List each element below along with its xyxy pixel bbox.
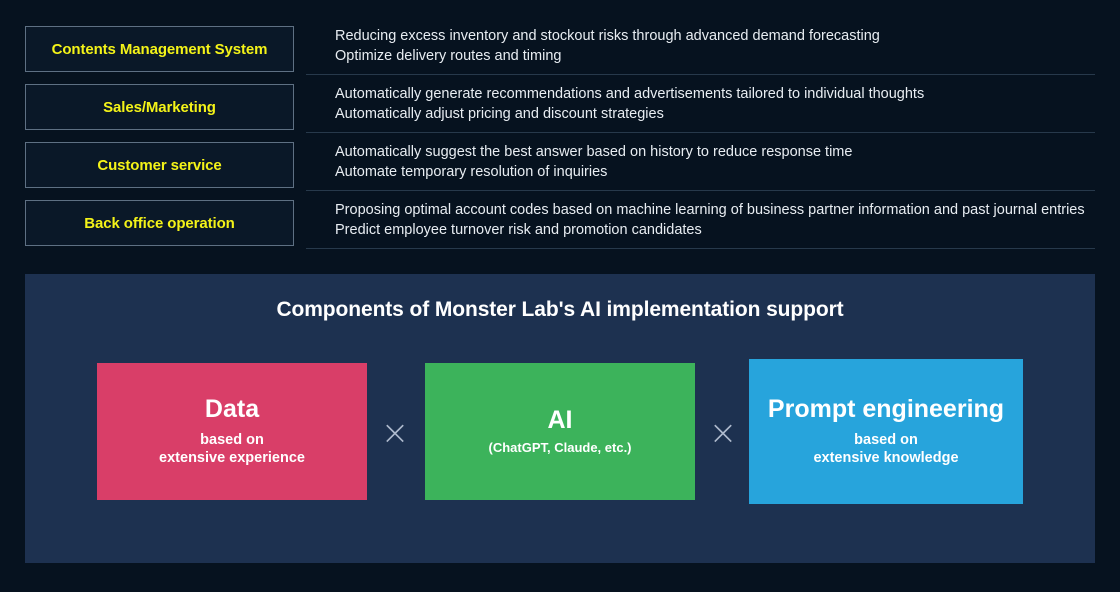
usecase-description-line: Predict employee turnover risk and promo… <box>335 220 1105 240</box>
row-separator <box>306 248 1095 249</box>
component-box-title: Prompt engineering <box>768 395 1004 424</box>
component-box-ai[interactable]: AI (ChatGPT, Claude, etc.) <box>425 363 695 500</box>
table-row: Contents Management System Reducing exce… <box>0 21 1120 79</box>
usecase-label-text: Back office operation <box>84 215 234 232</box>
usecase-label-box-contents-management-system[interactable]: Contents Management System <box>25 26 294 72</box>
usecase-description-cell: Reducing excess inventory and stockout r… <box>335 26 1105 74</box>
component-box-subtitle: based on extensive knowledge <box>813 431 958 469</box>
usecase-label-text: Contents Management System <box>52 41 268 58</box>
usecase-description-line: Reducing excess inventory and stockout r… <box>335 26 1105 46</box>
usecase-description-cell: Automatically suggest the best answer ba… <box>335 142 1105 190</box>
row-separator <box>306 132 1095 133</box>
usecase-description-line: Proposing optimal account codes based on… <box>335 200 1105 220</box>
usecase-description-line: Automate temporary resolution of inquiri… <box>335 162 1105 182</box>
component-box-subtitle: (ChatGPT, Claude, etc.) <box>488 440 631 457</box>
component-box-data[interactable]: Data based on extensive experience <box>97 363 367 500</box>
table-row: Sales/Marketing Automatically generate r… <box>0 79 1120 137</box>
components-panel: Components of Monster Lab's AI implement… <box>25 274 1095 563</box>
usecase-description-line: Automatically suggest the best answer ba… <box>335 142 1105 162</box>
usecase-label-box-sales-marketing[interactable]: Sales/Marketing <box>25 84 294 130</box>
usecase-description-line: Optimize delivery routes and timing <box>335 46 1105 66</box>
usecase-label-box-back-office-operation[interactable]: Back office operation <box>25 200 294 246</box>
usecase-label-box-customer-service[interactable]: Customer service <box>25 142 294 188</box>
row-separator <box>306 190 1095 191</box>
usecase-description-cell: Automatically generate recommendations a… <box>335 84 1105 132</box>
usecase-label-text: Sales/Marketing <box>103 99 216 116</box>
table-row: Customer service Automatically suggest t… <box>0 137 1120 195</box>
usecase-description-line: Automatically adjust pricing and discoun… <box>335 104 1105 124</box>
components-boxes-row: Data based on extensive experience × AI … <box>25 363 1095 508</box>
panel-title: Components of Monster Lab's AI implement… <box>25 298 1095 322</box>
multiply-icon: × <box>375 413 415 453</box>
usecase-table: Contents Management System Reducing exce… <box>0 0 1120 266</box>
usecase-label-text: Customer service <box>97 157 221 174</box>
usecase-description-line: Automatically generate recommendations a… <box>335 84 1105 104</box>
usecase-description-cell: Proposing optimal account codes based on… <box>335 200 1105 248</box>
component-box-subtitle: based on extensive experience <box>159 431 305 469</box>
component-box-prompt-engineering[interactable]: Prompt engineering based on extensive kn… <box>749 359 1023 504</box>
component-box-title: AI <box>548 406 573 435</box>
multiply-icon: × <box>703 413 743 453</box>
component-box-title: Data <box>205 395 259 424</box>
row-separator <box>306 74 1095 75</box>
table-row: Back office operation Proposing optimal … <box>0 195 1120 253</box>
